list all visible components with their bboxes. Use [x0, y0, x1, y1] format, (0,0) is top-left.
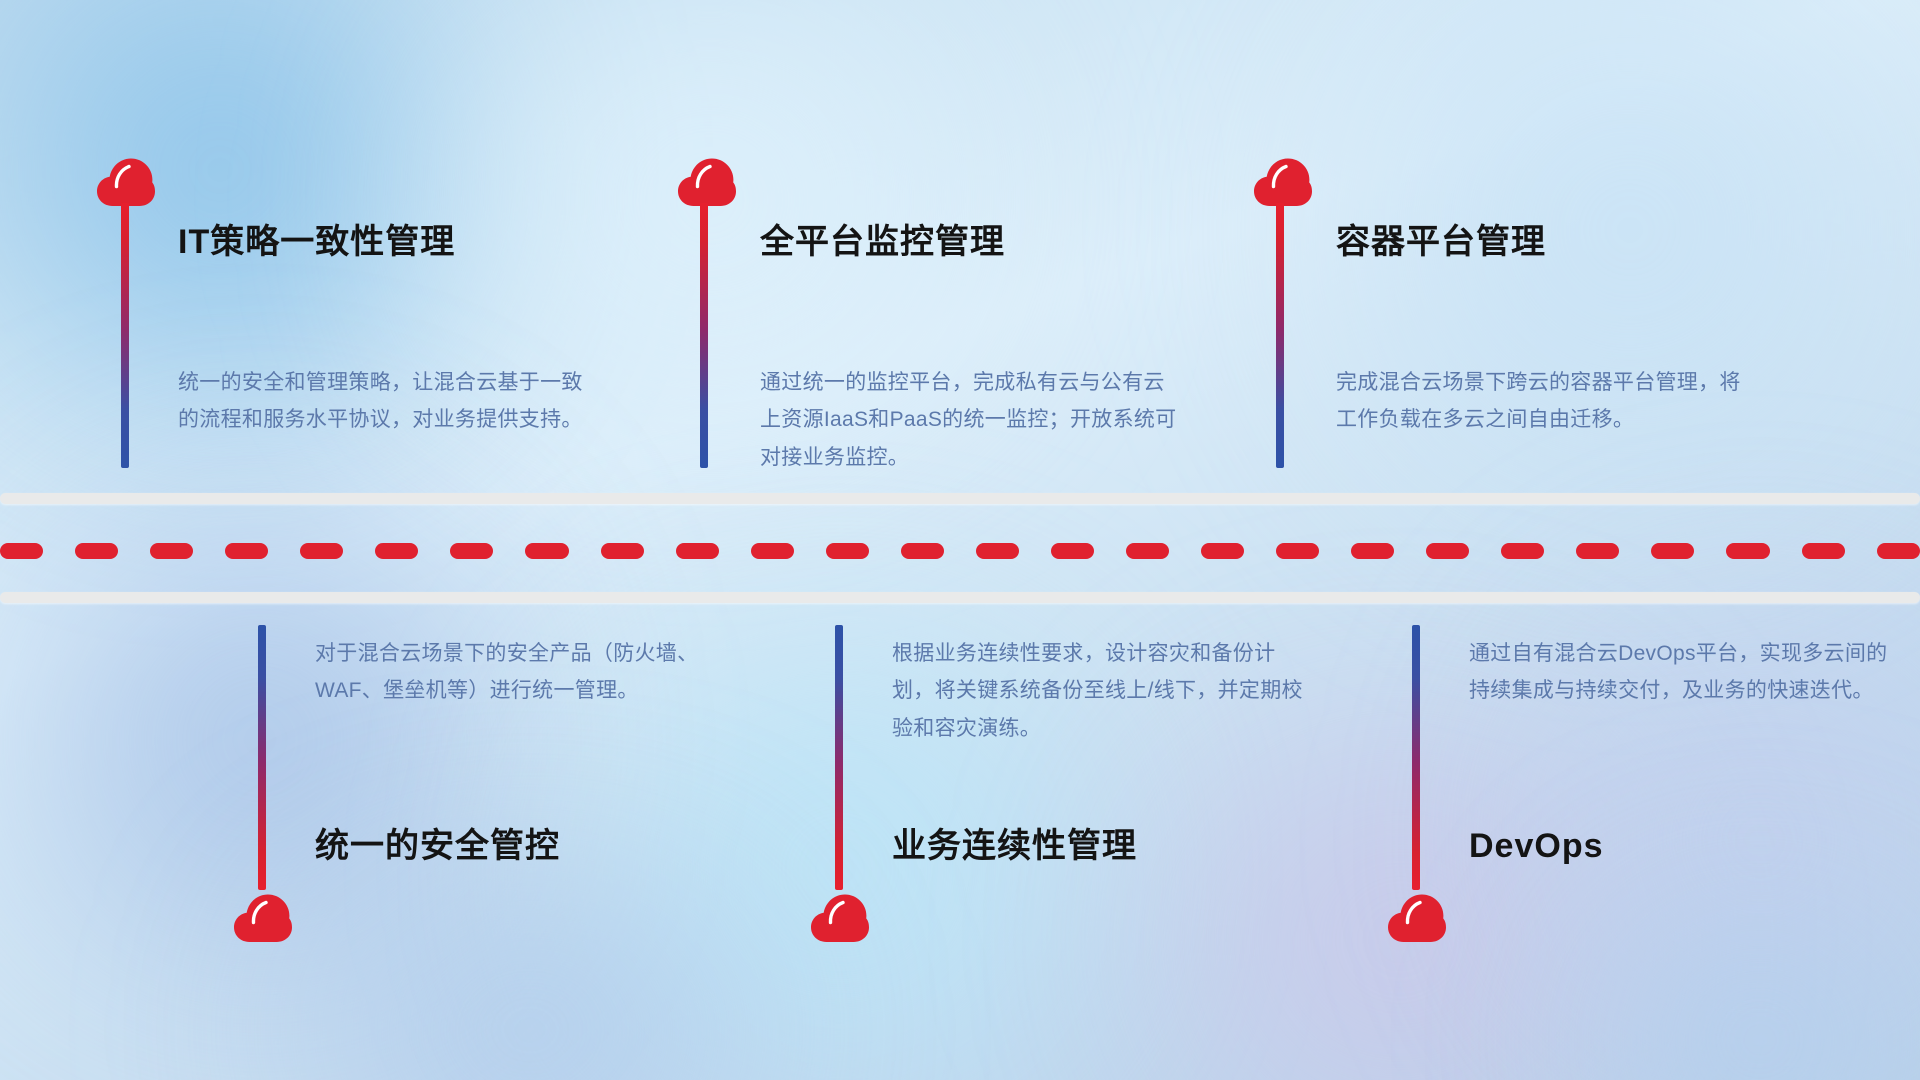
connector-bar — [700, 203, 708, 468]
divider-rail-bottom — [0, 592, 1920, 603]
item-title: 业务连续性管理 — [892, 829, 1137, 863]
divider-dash — [676, 543, 719, 559]
divider-dash — [826, 543, 869, 559]
divider-dash — [150, 543, 193, 559]
cloud-icon — [95, 157, 157, 207]
divider-dash — [300, 543, 343, 559]
divider-dash — [976, 543, 1019, 559]
divider-dash — [525, 543, 568, 559]
divider-dash — [0, 543, 43, 559]
cloud-icon — [1386, 893, 1448, 943]
cloud-icon — [809, 893, 871, 943]
item-description: 统一的安全和管理策略，让混合云基于一致的流程和服务水平协议，对业务提供支持。 — [178, 364, 598, 439]
connector-bar — [258, 625, 266, 890]
cloud-icon — [676, 157, 738, 207]
divider-dash — [1651, 543, 1694, 559]
divider-dash — [375, 543, 418, 559]
divider-dash — [751, 543, 794, 559]
divider-dash — [1051, 543, 1094, 559]
item-description: 完成混合云场景下跨云的容器平台管理，将工作负载在多云之间自由迁移。 — [1336, 364, 1756, 439]
divider-dash — [901, 543, 944, 559]
item-title: IT策略一致性管理 — [178, 225, 455, 259]
divider-dash — [450, 543, 493, 559]
divider-dashes — [0, 543, 1920, 559]
divider-dash — [1726, 543, 1769, 559]
divider-dash — [1351, 543, 1394, 559]
divider-dash — [1576, 543, 1619, 559]
divider-dash — [601, 543, 644, 559]
divider-rail-top — [0, 493, 1920, 504]
divider-dash — [1126, 543, 1169, 559]
item-description: 根据业务连续性要求，设计容灾和备份计划，将关键系统备份至线上/线下，并定期校验和… — [892, 635, 1312, 747]
cloud-icon — [1252, 157, 1314, 207]
infographic-canvas: IT策略一致性管理 统一的安全和管理策略，让混合云基于一致的流程和服务水平协议，… — [0, 0, 1920, 1080]
item-title: 全平台监控管理 — [760, 225, 1005, 259]
connector-bar — [1276, 203, 1284, 468]
item-title: DevOps — [1469, 829, 1604, 863]
cloud-icon — [232, 893, 294, 943]
connector-bar — [121, 203, 129, 468]
item-title: 统一的安全管控 — [315, 829, 560, 863]
item-description: 对于混合云场景下的安全产品（防火墙、WAF、堡垒机等）进行统一管理。 — [315, 635, 735, 710]
connector-bar — [835, 625, 843, 890]
connector-bar — [1412, 625, 1420, 890]
item-title: 容器平台管理 — [1336, 225, 1546, 259]
divider-dash — [1501, 543, 1544, 559]
item-description: 通过统一的监控平台，完成私有云与公有云上资源IaaS和PaaS的统一监控；开放系… — [760, 364, 1180, 476]
divider-dash — [1276, 543, 1319, 559]
item-description: 通过自有混合云DevOps平台，实现多云间的持续集成与持续交付，及业务的快速迭代… — [1469, 635, 1889, 710]
divider-dash — [1426, 543, 1469, 559]
divider-dash — [1802, 543, 1845, 559]
divider-dash — [225, 543, 268, 559]
divider-dash — [75, 543, 118, 559]
divider-dash — [1201, 543, 1244, 559]
divider-dash — [1877, 543, 1920, 559]
